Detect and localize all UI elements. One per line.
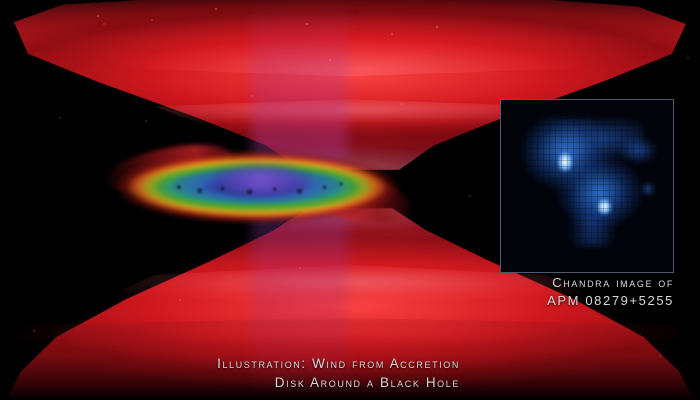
disk-blue-band bbox=[172, 168, 342, 202]
accretion-disk bbox=[110, 142, 410, 234]
disk-dark-clumps bbox=[154, 170, 362, 198]
disk-green-band bbox=[136, 161, 378, 213]
chandra-image-canvas bbox=[501, 100, 673, 272]
xray-pixel-grid-overlay bbox=[501, 100, 673, 272]
disk-outer-rim bbox=[114, 150, 400, 224]
disk-yellow-band bbox=[124, 156, 390, 218]
chandra-inset-caption: Chandra image of APM 08279+5255 bbox=[432, 274, 674, 311]
central-outflow-column bbox=[252, 0, 348, 400]
chandra-inset-image bbox=[500, 99, 674, 273]
disk-arm-right bbox=[282, 157, 417, 233]
disk-cyan-band bbox=[152, 167, 362, 207]
astronomy-image-scene: Chandra image of APM 08279+5255 Illustra… bbox=[0, 0, 700, 400]
upper-wind-cone-rim bbox=[0, 36, 700, 108]
black-hole-core-glow bbox=[206, 164, 316, 198]
illustration-caption: Illustration: Wind from Accretion Disk A… bbox=[120, 354, 460, 392]
disk-arm-left bbox=[101, 136, 236, 200]
